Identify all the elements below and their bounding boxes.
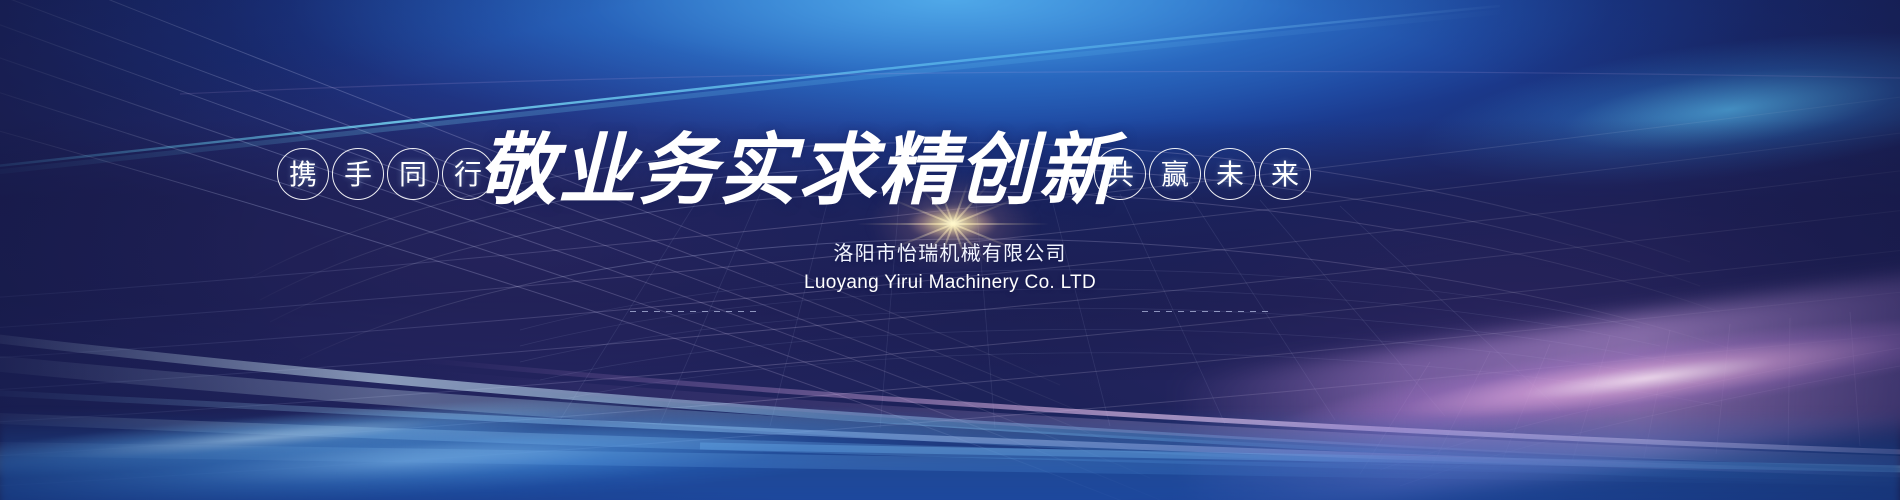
circled-char-lai: 来 xyxy=(1259,148,1311,200)
circled-char-wei: 未 xyxy=(1204,148,1256,200)
dashed-rule-right xyxy=(1142,311,1270,312)
company-culture-banner: 携 手 同 行 敬业 务实 求精 创新 共 赢 未 来 洛阳市怡瑞机械有限公司 … xyxy=(0,0,1900,500)
main-slogan: 敬业 务实 求精 创新 xyxy=(478,118,1098,223)
slogan-word-qiujing: 求精 xyxy=(798,132,958,210)
circled-char-ying: 赢 xyxy=(1149,148,1201,200)
left-circled-slogan: 携 手 同 行 xyxy=(277,148,494,200)
slogan-word-wushi: 务实 xyxy=(638,132,798,210)
company-name-block: 洛阳市怡瑞机械有限公司 Luoyang Yirui Machinery Co. … xyxy=(0,238,1900,298)
circled-char-tong: 同 xyxy=(387,148,439,200)
slogan-word-jingye: 敬业 xyxy=(478,132,638,210)
bottom-blue-fade xyxy=(0,410,1900,500)
circled-char-shou: 手 xyxy=(332,148,384,200)
right-circled-slogan: 共 赢 未 来 xyxy=(1094,148,1311,200)
circled-char-xie: 携 xyxy=(277,148,329,200)
company-name-en: Luoyang Yirui Machinery Co. LTD xyxy=(0,268,1900,298)
circled-char-gong: 共 xyxy=(1094,148,1146,200)
company-name-cn: 洛阳市怡瑞机械有限公司 xyxy=(0,238,1900,268)
dashed-rule-left xyxy=(630,311,758,312)
